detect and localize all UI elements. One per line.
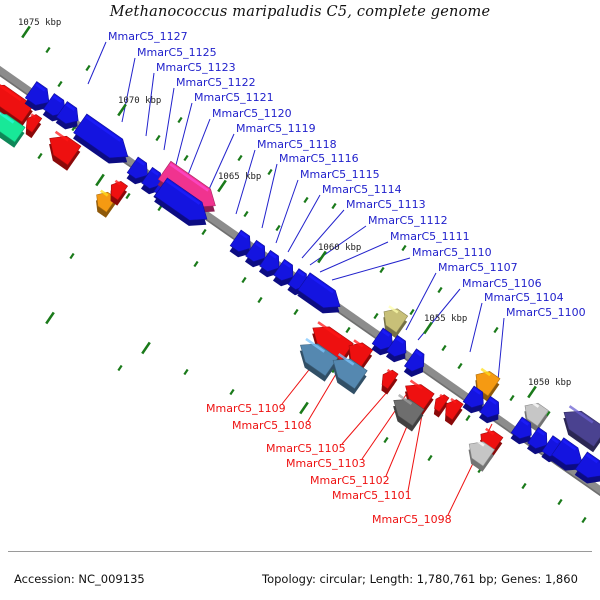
genome-viewer: Methanococcus maripaludis C5, complete g… — [0, 0, 600, 600]
gc-tick-mark — [384, 438, 387, 443]
gc-tick-mark — [442, 346, 445, 351]
gene-reverse-leader-line — [282, 366, 312, 404]
gc-tick-mark — [528, 386, 536, 397]
gene-forward-label[interactable]: MmarC5_1113 — [346, 198, 426, 211]
gene-forward-label[interactable]: MmarC5_1115 — [300, 168, 380, 181]
page-title: Methanococcus maripaludis C5, complete g… — [0, 4, 600, 20]
gene-forward-label[interactable]: MmarC5_1116 — [279, 152, 359, 165]
gc-tick-mark — [428, 456, 431, 461]
gene-forward-label[interactable]: MmarC5_1125 — [137, 46, 217, 59]
gc-tick-mark — [522, 484, 525, 489]
gene-forward-label[interactable]: MmarC5_1106 — [462, 277, 542, 290]
gc-tick-mark — [402, 246, 405, 251]
gc-tick-mark — [178, 118, 181, 123]
gene-reverse-label[interactable]: MmarC5_1102 — [310, 474, 390, 487]
gene-forward-leader-line — [186, 119, 210, 180]
gc-tick-mark — [268, 170, 271, 175]
gene-forward-leader-line — [122, 58, 135, 122]
gc-tick-mark — [458, 364, 461, 369]
gc-tick-mark — [46, 312, 54, 323]
gc-tick-mark — [142, 342, 150, 353]
gc-tick-mark — [242, 278, 245, 283]
gc-tick-mark — [184, 370, 187, 375]
gc-tick-mark — [424, 322, 432, 333]
gc-tick-mark — [466, 416, 469, 421]
gene-forward-leader-line — [498, 318, 504, 380]
gene-forward-label[interactable]: MmarC5_1100 — [506, 306, 586, 319]
gene-reverse-label[interactable]: MmarC5_1109 — [206, 402, 286, 415]
gc-tick-mark — [86, 66, 89, 71]
gc-tick-mark — [38, 154, 41, 159]
gene-forward-label[interactable]: MmarC5_1119 — [236, 122, 316, 135]
ruler-tick-label: 1075 kbp — [18, 18, 61, 28]
gene-reverse-label[interactable]: MmarC5_1098 — [372, 513, 452, 526]
gc-tick-mark — [438, 288, 441, 293]
ruler-tick-label: 1065 kbp — [218, 172, 261, 182]
gene-forward-leader-line — [88, 42, 106, 84]
accession-text: Accession: NC_009135 — [14, 572, 145, 586]
gene-forward-label[interactable]: MmarC5_1122 — [176, 76, 256, 89]
gc-tick-mark — [22, 26, 30, 37]
gc-tick-mark — [46, 48, 49, 53]
gene-forward-leader-line — [176, 103, 192, 165]
gc-tick-mark — [332, 204, 335, 209]
gene-forward-label[interactable]: MmarC5_1127 — [108, 30, 188, 43]
gc-tick-mark — [510, 396, 513, 401]
gc-tick-mark — [346, 328, 349, 333]
ruler-tick-label: 1055 kbp — [424, 314, 467, 324]
ruler-tick-label: 1050 kbp — [528, 378, 571, 388]
gene-forward-label[interactable]: MmarC5_1118 — [257, 138, 337, 151]
gene-reverse-label[interactable]: MmarC5_1105 — [266, 442, 346, 455]
footer-divider — [8, 551, 592, 552]
gc-tick-mark — [126, 194, 129, 199]
gene-forward-leader-line — [276, 180, 298, 243]
gene-forward-label[interactable]: MmarC5_1111 — [390, 230, 470, 243]
gc-tick-mark — [96, 174, 104, 185]
gene-forward-label[interactable]: MmarC5_1110 — [412, 246, 492, 259]
gc-tick-mark — [202, 230, 205, 235]
gc-tick-mark — [318, 251, 326, 262]
gc-tick-mark — [156, 136, 159, 141]
gene-reverse-label[interactable]: MmarC5_1101 — [332, 489, 412, 502]
gc-tick-mark — [304, 198, 307, 203]
gene-forward-label[interactable]: MmarC5_1104 — [484, 291, 564, 304]
gc-tick-mark — [70, 254, 73, 259]
gc-tick-mark — [380, 268, 383, 273]
ruler-tick-label: 1060 kbp — [318, 243, 361, 253]
gene-forward-leader-line — [164, 88, 174, 150]
gc-tick-mark — [58, 82, 61, 87]
gene-reverse-label[interactable]: MmarC5_1103 — [286, 457, 366, 470]
gc-tick-mark — [230, 390, 233, 395]
gene-forward-label[interactable]: MmarC5_1123 — [156, 61, 236, 74]
gc-tick-mark — [276, 226, 279, 231]
gc-tick-mark — [244, 212, 247, 217]
gene-reverse-leader-line — [308, 374, 336, 421]
gene-top-face — [43, 129, 81, 165]
gene-forward-label[interactable]: MmarC5_1112 — [368, 214, 448, 227]
gene-reverse-label[interactable]: MmarC5_1108 — [232, 419, 312, 432]
gc-tick-mark — [294, 310, 297, 315]
gc-tick-mark — [374, 314, 377, 319]
gene-feature[interactable] — [375, 367, 400, 394]
gc-tick-mark — [118, 366, 121, 371]
gc-tick-mark — [218, 180, 226, 191]
gene-forward-label[interactable]: MmarC5_1120 — [212, 107, 292, 120]
gene-forward-label[interactable]: MmarC5_1114 — [322, 183, 402, 196]
gc-tick-mark — [194, 262, 197, 267]
gene-forward-label[interactable]: MmarC5_1121 — [194, 91, 274, 104]
gc-tick-mark — [582, 518, 585, 523]
gc-tick-mark — [238, 156, 241, 161]
gc-tick-mark — [410, 310, 413, 315]
gc-tick-mark — [494, 328, 497, 333]
gene-forward-label[interactable]: MmarC5_1107 — [438, 261, 518, 274]
gc-tick-mark — [300, 402, 308, 413]
gene-forward-leader-line — [470, 303, 482, 352]
gc-tick-mark — [558, 500, 561, 505]
genome-stats-text: Topology: circular; Length: 1,780,761 bp… — [262, 572, 578, 586]
ruler-tick-label: 1070 kbp — [118, 96, 161, 106]
gc-tick-mark — [184, 156, 187, 161]
gc-tick-mark — [258, 298, 261, 303]
